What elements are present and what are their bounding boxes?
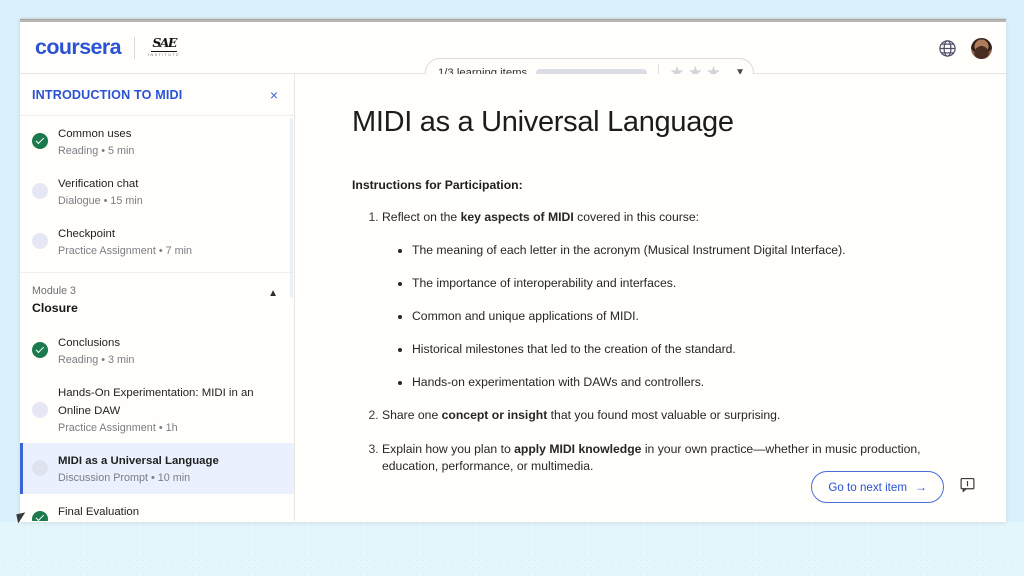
brand-area: coursera SAE INSTITUTE: [20, 35, 180, 60]
module-title: Closure: [32, 301, 78, 315]
empty-circle-icon: [32, 460, 48, 476]
close-icon[interactable]: ×: [270, 88, 278, 102]
step-text-bold: key aspects of MIDI: [461, 210, 574, 224]
lesson-name: Conclusions: [58, 337, 120, 349]
step-text-before: Share one: [382, 408, 442, 422]
app-header: coursera SAE INSTITUTE 1/3 learning item…: [20, 22, 1006, 74]
arrow-right-icon: →: [915, 480, 927, 494]
course-sidebar: INTRODUCTION TO MIDI × Common uses Readi…: [20, 74, 295, 521]
empty-circle-icon: [32, 402, 48, 418]
partner-logo[interactable]: SAE INSTITUTE: [148, 37, 180, 58]
partner-logo-mark: SAE: [151, 37, 176, 52]
step-text-before: Reflect on the: [382, 210, 461, 224]
footer-actions: Go to next item →: [811, 471, 976, 503]
step-text-bold: apply MIDI knowledge: [514, 442, 641, 456]
sidebar-item-hands-on-experimentation[interactable]: Hands-On Experimentation: MIDI in an Onl…: [20, 375, 294, 443]
sidebar-header: INTRODUCTION TO MIDI ×: [20, 74, 294, 116]
lesson-content: MIDI as a Universal Language Instruction…: [295, 74, 1006, 521]
sidebar-item-conclusions[interactable]: Conclusions Reading • 3 min: [20, 325, 294, 375]
lesson-meta: Discussion Prompt • 10 min: [58, 471, 219, 485]
check-circle-icon: [32, 342, 48, 358]
step-text-after: covered in this course:: [574, 210, 699, 224]
list-item: Share one concept or insight that you fo…: [382, 407, 930, 425]
sidebar-item-verification-chat[interactable]: Verification chat Dialogue • 15 min: [20, 166, 294, 216]
list-item: Historical milestones that led to the cr…: [412, 341, 930, 358]
sidebar-item-final-evaluation[interactable]: Final Evaluation Graded Assignment • Gra…: [20, 494, 294, 521]
module-label: Module 3: [32, 285, 78, 297]
go-to-next-item-button[interactable]: Go to next item →: [811, 471, 944, 503]
lesson-name: Common uses: [58, 128, 131, 140]
list-item: The meaning of each letter in the acrony…: [412, 242, 930, 259]
header-right-actions: [938, 22, 992, 74]
globe-icon[interactable]: [938, 39, 957, 58]
list-item: Common and unique applications of MIDI.: [412, 308, 930, 325]
lesson-name: Verification chat: [58, 178, 138, 190]
sidebar-module-header[interactable]: Module 3 Closure ▲: [20, 273, 294, 325]
sidebar-item-checkpoint[interactable]: Checkpoint Practice Assignment • 7 min: [20, 216, 294, 266]
empty-circle-icon: [32, 233, 48, 249]
lesson-meta: Practice Assignment • 7 min: [58, 244, 192, 258]
brand-divider: [134, 37, 135, 59]
lesson-name: Final Evaluation: [58, 506, 139, 518]
sidebar-lesson-list-module: Conclusions Reading • 3 min Hands-On Exp…: [20, 325, 294, 521]
sidebar-item-midi-as-a-universal-language[interactable]: MIDI as a Universal Language Discussion …: [20, 443, 294, 493]
lesson-meta: Reading • 3 min: [58, 353, 134, 367]
browser-window: coursera SAE INSTITUTE 1/3 learning item…: [20, 18, 1006, 522]
desktop-dot-pattern: [0, 522, 1024, 576]
lesson-meta: Reading • 5 min: [58, 144, 134, 158]
page-title: MIDI as a Universal Language: [352, 106, 1006, 139]
sidebar-title: INTRODUCTION TO MIDI: [32, 88, 182, 102]
sidebar-lesson-list-top: Common uses Reading • 5 min Verification…: [20, 116, 294, 266]
next-item-label: Go to next item: [828, 481, 907, 494]
step-text-bold: concept or insight: [442, 408, 548, 422]
lesson-name: MIDI as a Universal Language: [58, 455, 219, 467]
avatar[interactable]: [971, 38, 992, 59]
step-text-after: that you found most valuable or surprisi…: [547, 408, 780, 422]
check-circle-icon: [32, 511, 48, 521]
list-item: Hands-on experimentation with DAWs and c…: [412, 374, 930, 391]
lesson-name: Checkpoint: [58, 228, 115, 240]
sidebar-item-common-uses[interactable]: Common uses Reading • 5 min: [20, 116, 294, 166]
chevron-up-icon[interactable]: ▲: [268, 288, 278, 299]
app-body: INTRODUCTION TO MIDI × Common uses Readi…: [20, 74, 1006, 521]
list-item: The importance of interoperability and i…: [412, 275, 930, 292]
lesson-meta: Dialogue • 15 min: [58, 194, 143, 208]
step-text-before: Explain how you plan to: [382, 442, 514, 456]
list-item: Reflect on the key aspects of MIDI cover…: [382, 209, 930, 391]
sub-list: The meaning of each letter in the acrony…: [382, 242, 930, 391]
sidebar-scrollbar[interactable]: [290, 118, 293, 298]
lesson-name: Hands-On Experimentation: MIDI in an Onl…: [58, 387, 254, 417]
partner-logo-subtitle: INSTITUTE: [148, 54, 180, 58]
desktop-backdrop: coursera SAE INSTITUTE 1/3 learning item…: [0, 0, 1024, 576]
check-circle-icon: [32, 133, 48, 149]
empty-circle-icon: [32, 183, 48, 199]
message-square-icon[interactable]: [959, 476, 976, 498]
coursera-logo[interactable]: coursera: [35, 35, 121, 60]
lesson-meta: Practice Assignment • 1h: [58, 421, 273, 435]
instructions-heading: Instructions for Participation:: [352, 178, 1006, 192]
instructions-list: Reflect on the key aspects of MIDI cover…: [352, 209, 1006, 476]
